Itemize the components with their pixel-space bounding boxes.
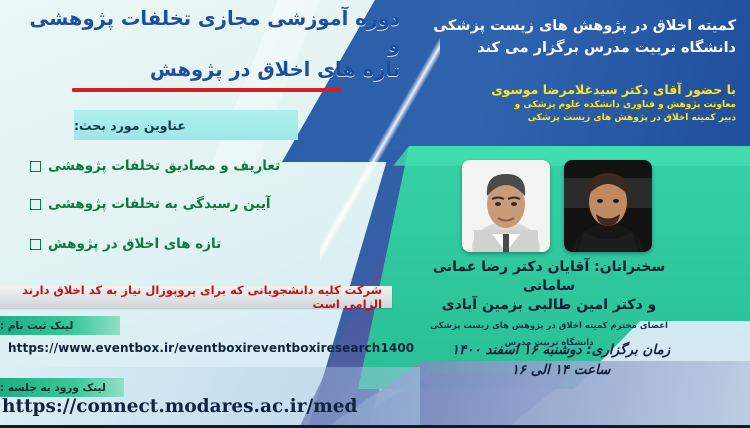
speakers-affiliation-line-1: اعضای محترم کمیته اخلاق در پژوهش های زیس… <box>384 320 714 333</box>
mandatory-attendance-text: شرکت کلیه دانشجویانی که برای پروپوزال نی… <box>0 283 382 311</box>
mandatory-attendance-banner: شرکت کلیه دانشجویانی که برای پروپوزال نی… <box>0 286 392 308</box>
topic-item: تعاریف و مصادیق تخلفات پژوهشی <box>30 158 302 174</box>
checkbox-icon <box>30 239 41 250</box>
registration-link-tag: لینک ثبت نام : <box>0 316 120 335</box>
topic-item: آیین رسیدگی به تخلفات پژوهشی <box>30 196 302 212</box>
topic-item: تازه های اخلاق در پژوهش <box>30 236 302 252</box>
meeting-url-link[interactable]: https://connect.modares.ac.ir/med <box>2 396 357 417</box>
speaker-line-1: سخنرانان: آقایان دکتر رضا عمانی <box>384 258 714 277</box>
checkbox-icon <box>30 199 41 210</box>
event-date: زمان برگزاری: دوشنبه ۱۶ اسفند ۱۴۰۰ <box>396 340 726 360</box>
speakers-block: سخنرانان: آقایان دکتر رضا عمانی سامانی و… <box>384 258 714 350</box>
topic-label: آیین رسیدگی به تخلفات پژوهشی <box>48 196 271 212</box>
portrait-icon <box>564 160 652 252</box>
event-datetime: زمان برگزاری: دوشنبه ۱۶ اسفند ۱۴۰۰ ساعت … <box>396 340 726 381</box>
registration-link-label: لینک ثبت نام : <box>0 320 73 332</box>
topics-header: عناوین مورد بحث: <box>74 110 298 140</box>
speaker-photo-right <box>564 160 652 252</box>
portrait-icon <box>462 160 550 252</box>
organizer-heading: کمیته اخلاق در پژوهش های زیست پزشکی دانش… <box>406 16 736 60</box>
registration-url-link[interactable]: https://www.eventbox.ir/eventboxireventb… <box>8 341 414 355</box>
organizer-line-1: کمیته اخلاق در پژوهش های زیست پزشکی <box>406 16 736 38</box>
page-title-line-2: تازه های اخلاق در پژوهش <box>18 57 400 83</box>
page-title-line-1: دوره آموزشی مجازی تخلفات پژوهشی و <box>18 6 400 57</box>
page-title: دوره آموزشی مجازی تخلفات پژوهشی و تازه ه… <box>18 6 400 83</box>
left-content-column: دوره آموزشی مجازی تخلفات پژوهشی و تازه ه… <box>0 0 412 425</box>
topic-label: تازه های اخلاق در پژوهش <box>48 236 221 252</box>
title-divider <box>72 88 342 92</box>
guest-role-line-2: دبیر کمیته اخلاق در پژوهش های زیست پزشکی <box>396 112 736 125</box>
guest-name: با حضور آقای دکتر سیدغلامرضا موسوی <box>396 82 736 99</box>
topic-label: تعاریف و مصادیق تخلفات پژوهشی <box>48 158 280 174</box>
event-poster: دوره آموزشی مجازی تخلفات پژوهشی و تازه ه… <box>0 0 750 428</box>
topics-header-label: عناوین مورد بحث: <box>74 118 186 133</box>
meeting-link-tag: لینک ورود به جلسه : <box>0 378 124 397</box>
guest-role-line-1: معاونت پژوهش و فناوری دانشکده علوم پزشکی… <box>396 99 736 112</box>
speaker-line-3: و دکتر امین طالبی بزمین آبادی <box>384 296 714 315</box>
speaker-photos <box>462 160 658 252</box>
checkbox-icon <box>30 161 41 172</box>
meeting-link-label: لینک ورود به جلسه : <box>0 382 106 394</box>
organizer-line-2: دانشگاه تربیت مدرس برگزار می کند <box>406 38 736 60</box>
guest-of-honor-block: با حضور آقای دکتر سیدغلامرضا موسوی معاون… <box>396 82 736 125</box>
speaker-photo-left <box>462 160 550 252</box>
speaker-line-2: سامانی <box>384 277 714 296</box>
event-time: ساعت ۱۴ الی ۱۶ <box>396 360 726 380</box>
